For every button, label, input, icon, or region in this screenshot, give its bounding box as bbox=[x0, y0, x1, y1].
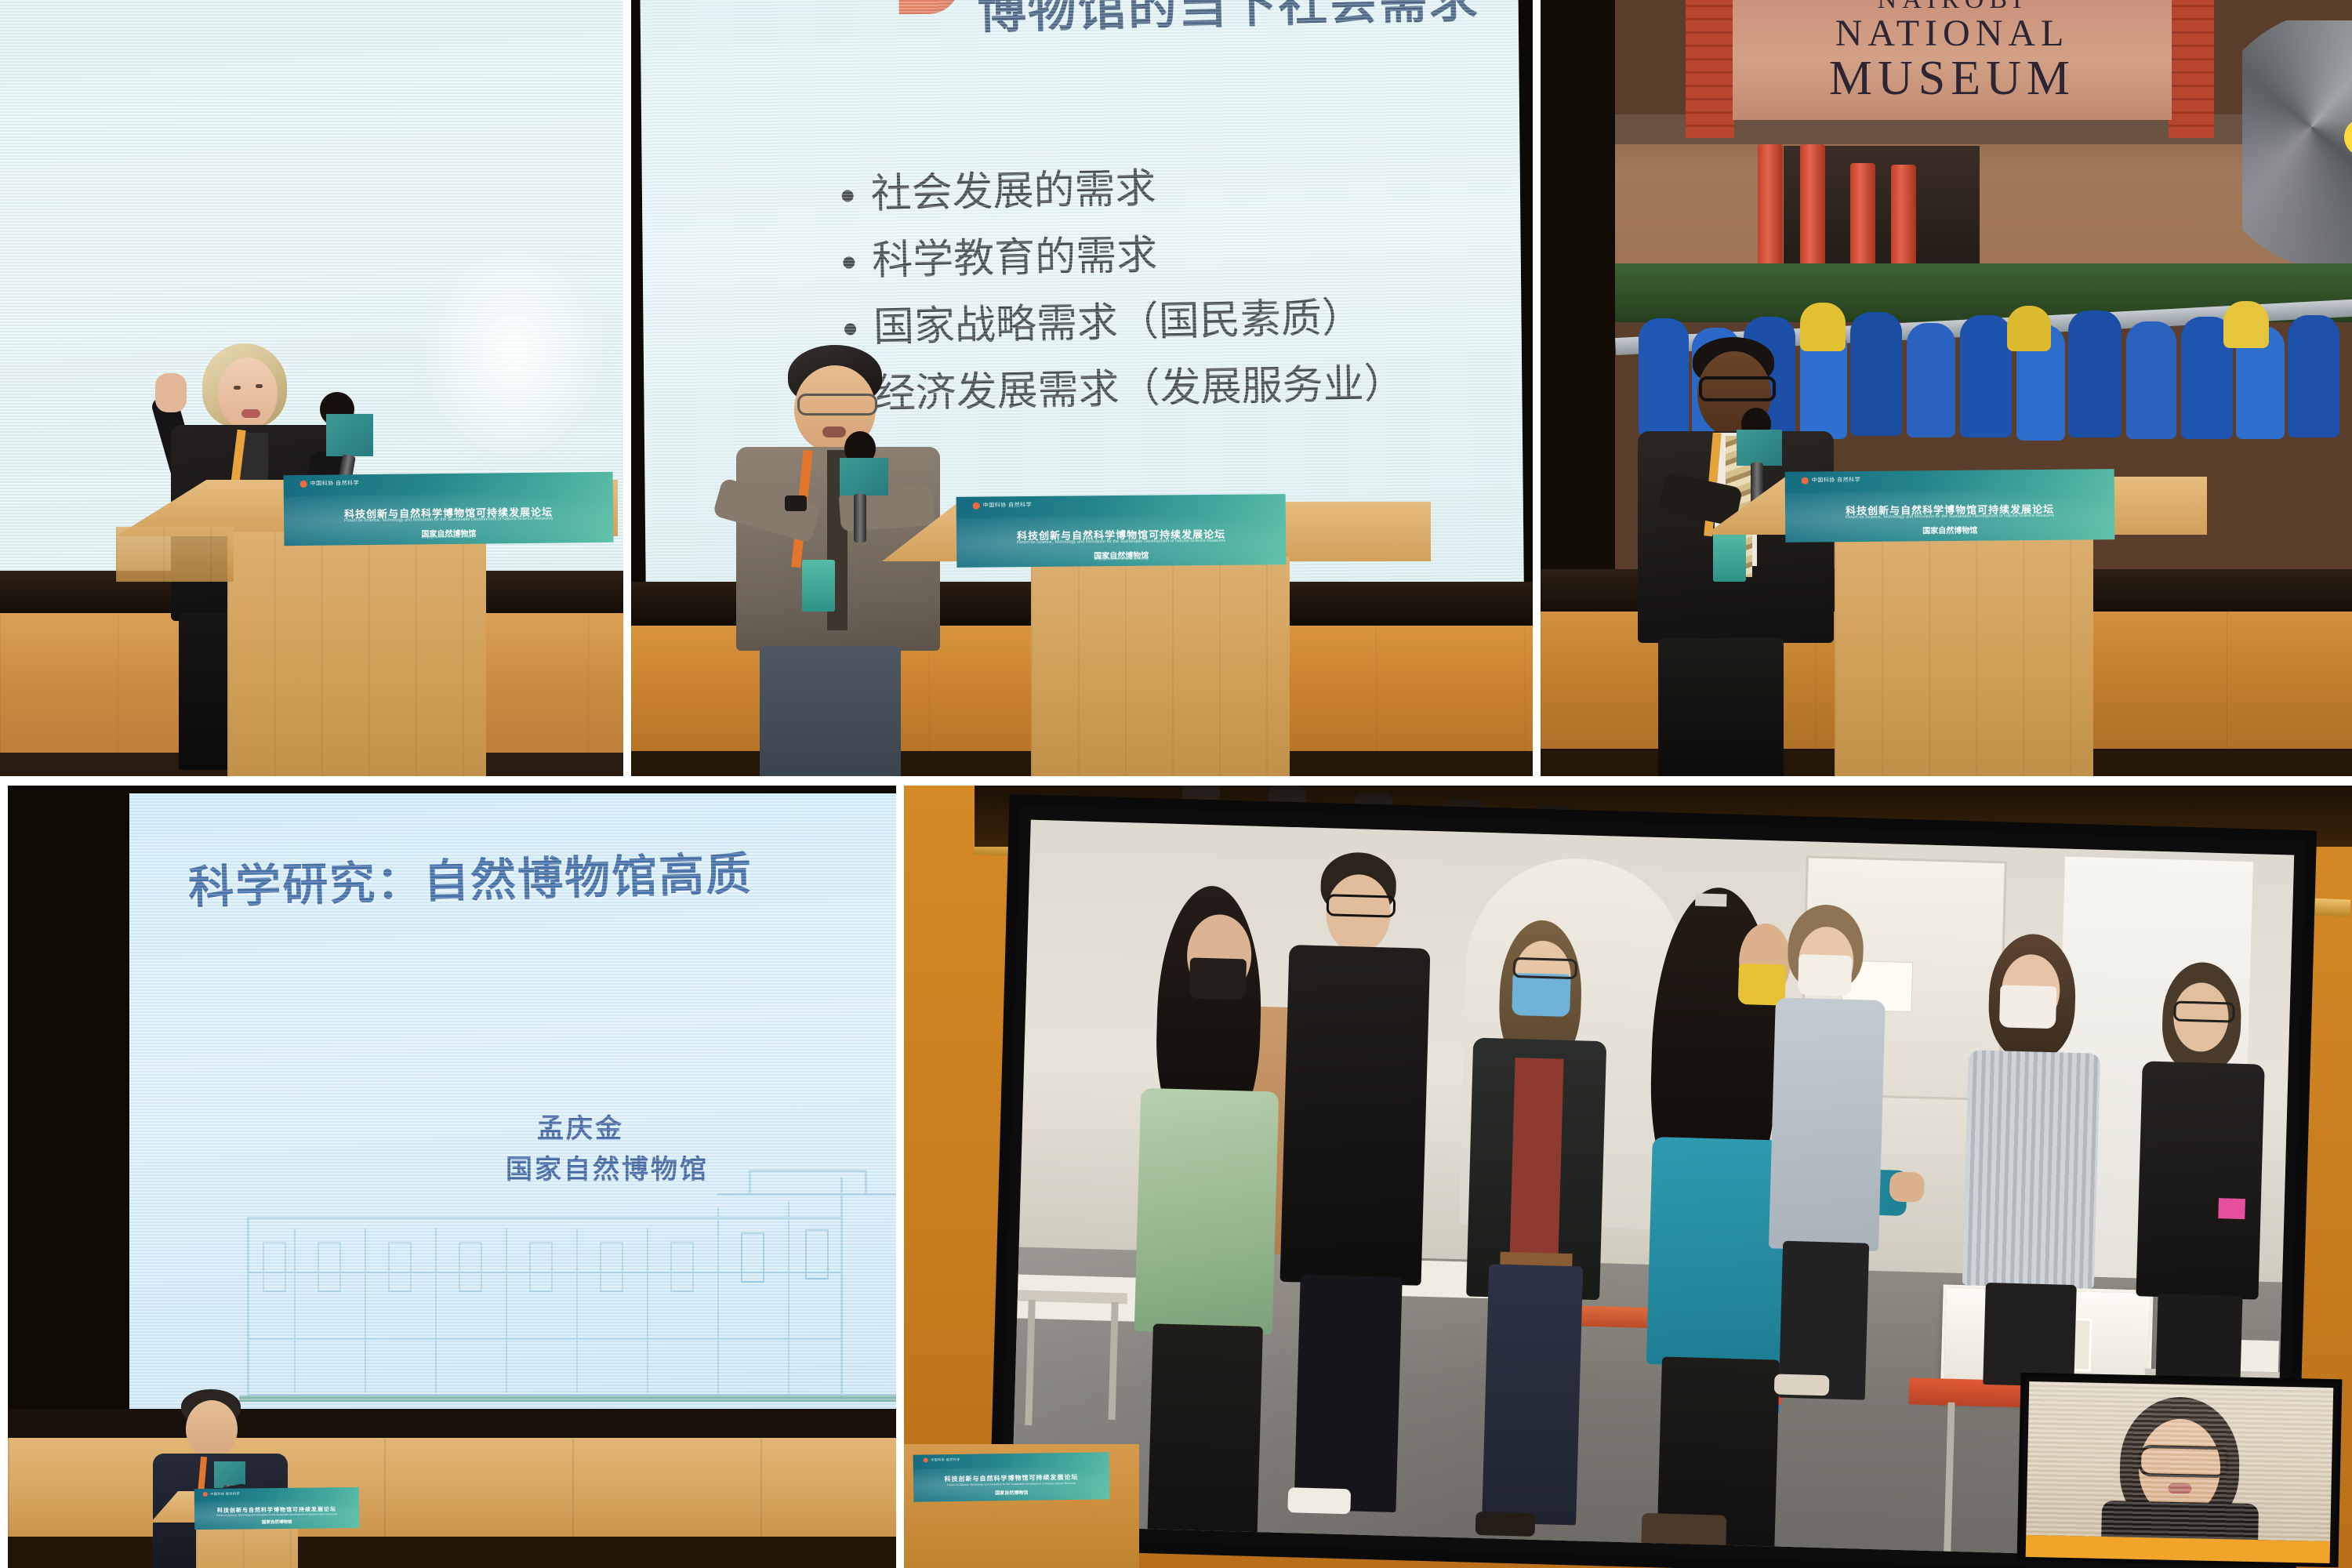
black-top bbox=[2101, 1501, 2259, 1541]
sponsor-logo: 中国科协 自然科学 bbox=[300, 479, 360, 488]
video-person bbox=[1458, 919, 1617, 1534]
podium-banner: 中国科协 自然科学 科技创新与自然科学博物馆可持续发展论坛 Forum on S… bbox=[913, 1452, 1110, 1501]
banner-org-cn: 国家自然博物馆 bbox=[1785, 522, 2114, 537]
black-top bbox=[1280, 945, 1431, 1286]
brick-pillar-left bbox=[1686, 0, 1734, 138]
mic-flag bbox=[1737, 430, 1782, 466]
face-mask-blue bbox=[1512, 973, 1570, 1017]
logo-dot bbox=[923, 1458, 927, 1463]
boot bbox=[1641, 1513, 1726, 1550]
wall-dark-band bbox=[8, 1409, 896, 1442]
dark-jacket bbox=[2136, 1061, 2264, 1299]
lectern-body bbox=[1031, 557, 1290, 776]
dark-trousers bbox=[1983, 1283, 2077, 1387]
eyeglasses bbox=[797, 394, 877, 416]
child-yellow bbox=[2223, 301, 2269, 348]
light-grey-top bbox=[1769, 997, 1886, 1251]
slide-accent-shape bbox=[898, 0, 960, 14]
dark-trousers bbox=[2155, 1294, 2242, 1387]
slide-title: 科学研究：自然博物馆高质 bbox=[187, 833, 895, 916]
green-cardigan bbox=[1134, 1088, 1279, 1335]
mic-handle bbox=[854, 494, 866, 543]
eyeglasses bbox=[2138, 1445, 2230, 1478]
museum-facade-linedrawing bbox=[247, 1170, 896, 1405]
video-person bbox=[1957, 932, 2111, 1375]
sponsor-logo-text: 中国科协 自然科学 bbox=[1812, 476, 1861, 485]
pink-badge bbox=[2218, 1198, 2245, 1219]
sponsor-logo: 中国科协 自然科学 bbox=[923, 1457, 960, 1463]
museum-sign-line-2: NATIONAL bbox=[1733, 14, 2172, 53]
hair-clip bbox=[1695, 893, 1726, 906]
slide-bullet: 科学教育的需求 bbox=[872, 217, 1533, 292]
shoe bbox=[1475, 1512, 1536, 1537]
podium-banner: 中国科协 自然科学 科技创新与自然科学博物馆可持续发展论坛 Forum on S… bbox=[956, 494, 1287, 568]
video-person bbox=[1116, 884, 1298, 1508]
sponsor-logo-text: 中国科协 自然科学 bbox=[310, 479, 360, 488]
face bbox=[186, 1400, 238, 1458]
sponsor-logo-text: 中国科协 自然科学 bbox=[210, 1491, 240, 1496]
hand bbox=[1889, 1171, 1925, 1202]
video-tile-background bbox=[2026, 1381, 2333, 1541]
dark-trousers bbox=[1147, 1323, 1263, 1554]
screen-glare bbox=[419, 235, 608, 470]
banner-title-en: Forum on Science, Technology and Innovat… bbox=[194, 1512, 359, 1517]
panel-bullet-slide-speaker: 博物馆的当下社会需求 社会发展的需求 科学教育的需求 国家战略需求（国民素质） … bbox=[631, 0, 1533, 776]
face bbox=[2138, 1418, 2222, 1519]
slide-speaker-name: 孟庆金 bbox=[537, 1107, 624, 1145]
face-mask-white bbox=[1798, 954, 1852, 996]
projection-slide: 科学研究：自然博物馆高质 孟庆金 国家自然博物馆 bbox=[129, 793, 896, 1413]
raised-hand bbox=[155, 373, 187, 412]
sponsor-logo: 中国科协 自然科学 bbox=[973, 501, 1033, 510]
panel-female-speaker: 中国科协 自然科学 科技创新与自然科学博物馆可持续发展论坛 Forum on S… bbox=[0, 0, 623, 776]
video-person bbox=[2129, 960, 2274, 1388]
jeans bbox=[1482, 1264, 1583, 1525]
dark-trousers bbox=[1294, 1275, 1402, 1513]
child bbox=[2288, 315, 2339, 437]
lectern-side bbox=[116, 527, 234, 582]
red-shirt bbox=[1510, 1058, 1564, 1255]
eyeglasses bbox=[1327, 894, 1396, 917]
podium-banner: 中国科协 自然科学 科技创新与自然科学博物馆可持续发展论坛 Forum on S… bbox=[1785, 469, 2115, 543]
face-mask bbox=[1189, 957, 1247, 1000]
stage-wall-wood bbox=[8, 1438, 896, 1540]
name-badge bbox=[802, 560, 835, 612]
eyeglasses bbox=[1512, 957, 1577, 979]
banner-org-cn: 国家自然博物馆 bbox=[913, 1487, 1109, 1497]
photo-collage: 中国科协 自然科学 科技创新与自然科学博物馆可持续发展论坛 Forum on S… bbox=[0, 0, 2352, 1568]
podium-banner: 中国科协 自然科学 科技创新与自然科学博物馆可持续发展论坛 Forum on S… bbox=[284, 472, 614, 546]
sponsor-logo-text: 中国科协 自然科学 bbox=[983, 501, 1033, 510]
video-person bbox=[1752, 903, 1899, 1393]
museum-sign: NAIROBI NATIONAL MUSEUM bbox=[1733, 0, 2172, 120]
face bbox=[218, 358, 278, 430]
remote-participant-video-tile bbox=[2021, 1377, 2339, 1563]
eyeglasses bbox=[1699, 376, 1776, 401]
panel-stage-video-screen: 中国科协 自然科学 科技创新与自然科学博物馆可持续发展论坛 Forum on S… bbox=[904, 786, 2352, 1568]
sneaker bbox=[1287, 1487, 1351, 1514]
child bbox=[2068, 310, 2122, 437]
child-yellow bbox=[2007, 306, 2051, 351]
sandal bbox=[1774, 1374, 1830, 1396]
child bbox=[1960, 315, 2012, 437]
podium-banner: 中国科协 自然科学 科技创新与自然科学博物馆可持续发展论坛 Forum on S… bbox=[194, 1487, 360, 1530]
museum-sign-line-3: MUSEUM bbox=[1733, 53, 2172, 104]
sponsor-logo: 中国科协 自然科学 bbox=[202, 1491, 240, 1496]
slide-speaker-affiliation: 国家自然博物馆 bbox=[506, 1148, 709, 1186]
striped-shirt bbox=[1962, 1050, 2100, 1289]
presentation-clicker bbox=[785, 495, 807, 511]
panel-meng-qingjin-keynote: 科学研究：自然博物馆高质 孟庆金 国家自然博物馆 bbox=[8, 786, 896, 1568]
mic-flag bbox=[326, 414, 373, 456]
sponsor-logo: 中国科协 自然科学 bbox=[1802, 476, 1861, 485]
slide-title: 博物馆的当下社会需求 bbox=[977, 0, 1480, 42]
panel-nairobi-museum-speaker: NAIROBI NATIONAL MUSEUM bbox=[1541, 0, 2352, 776]
slide-bullet: 社会发展的需求 bbox=[870, 151, 1533, 226]
lectern-body bbox=[227, 532, 486, 776]
brick-pillar-right bbox=[2169, 0, 2214, 138]
banner-org-cn: 国家自然博物馆 bbox=[194, 1518, 359, 1526]
sponsor-logo-text: 中国科协 自然科学 bbox=[931, 1457, 960, 1463]
stage-floor-edge bbox=[8, 1537, 896, 1568]
child bbox=[2126, 321, 2176, 439]
eyeglasses bbox=[2173, 1000, 2235, 1022]
video-person bbox=[1271, 851, 1438, 1505]
logo-dot bbox=[1802, 477, 1809, 484]
face-mask-white bbox=[1999, 985, 2056, 1029]
hair bbox=[2118, 1396, 2241, 1531]
mic-flag bbox=[840, 458, 888, 495]
legs-jeans bbox=[760, 646, 901, 776]
logo-dot bbox=[300, 481, 307, 488]
logo-dot bbox=[973, 502, 980, 509]
logo-dot bbox=[202, 1492, 207, 1497]
lectern-body bbox=[1835, 530, 2093, 776]
